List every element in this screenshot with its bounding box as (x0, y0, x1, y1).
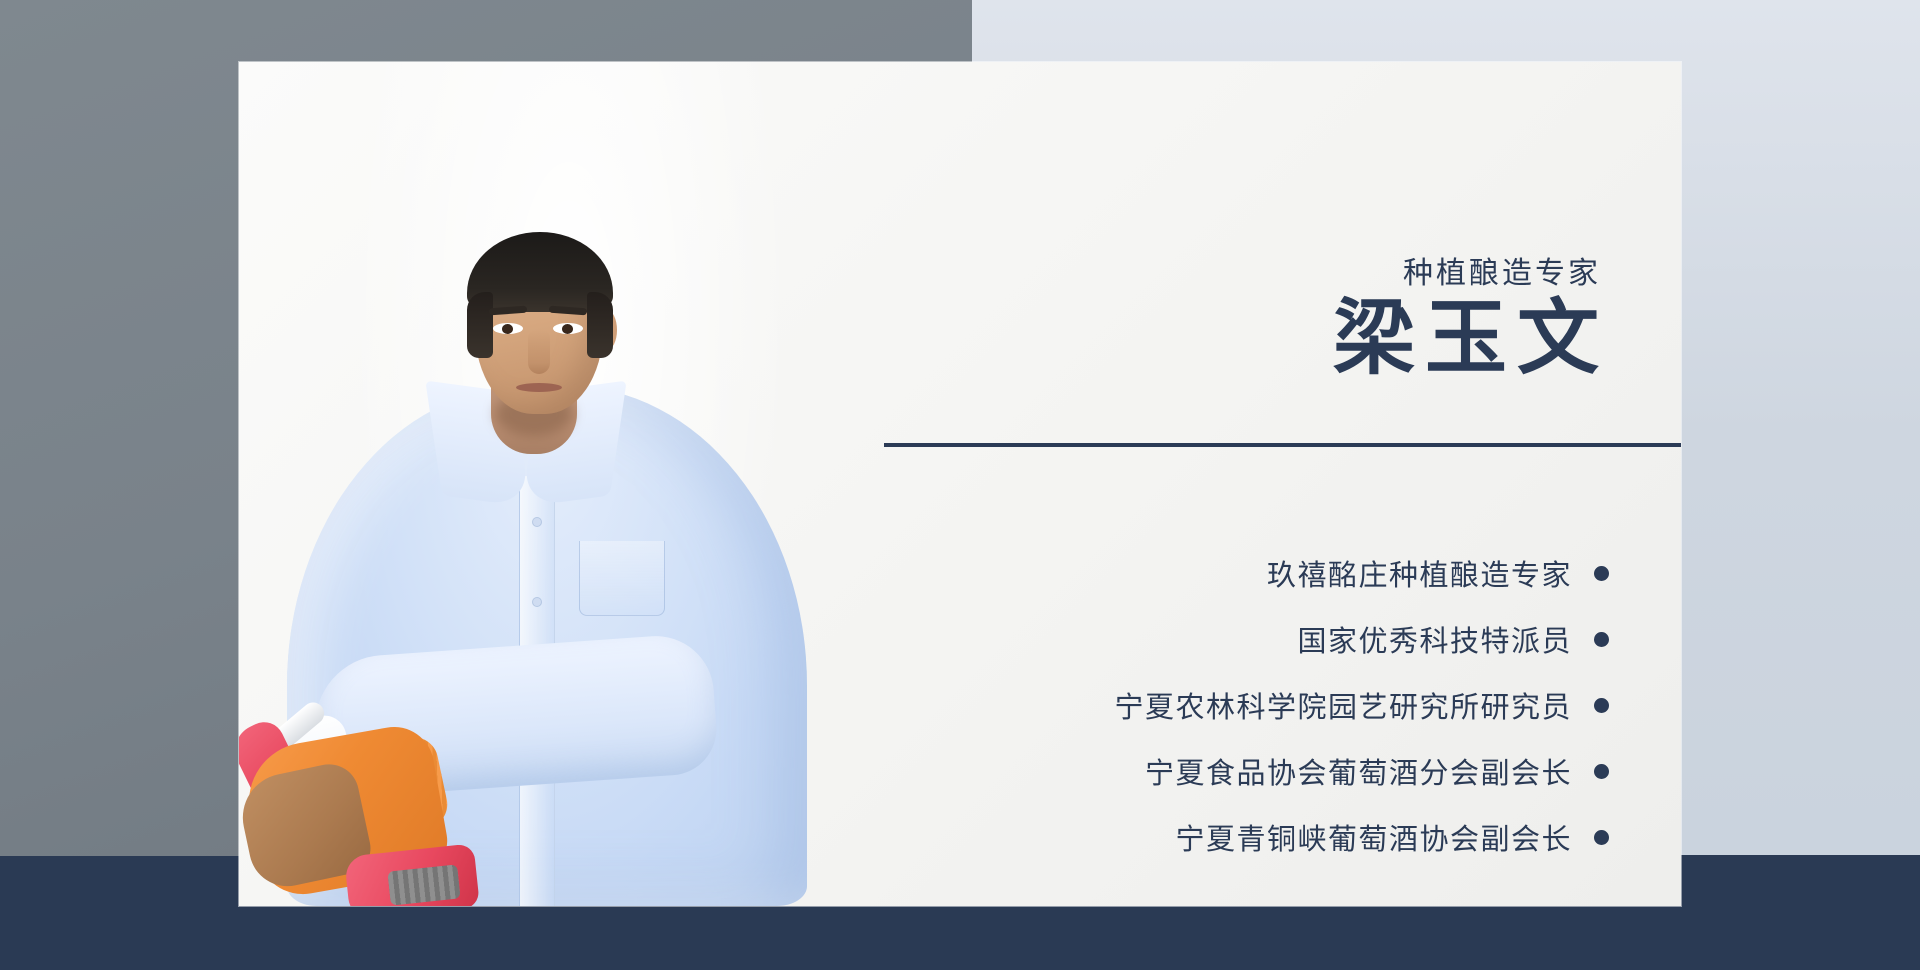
bullet-dot-icon (1594, 698, 1609, 713)
portrait-photo (239, 62, 859, 906)
pruning-shear-grip-icon (387, 864, 460, 905)
shirt-button-icon (533, 598, 541, 606)
portrait-eye-right (553, 323, 583, 334)
bullet-dot-icon (1594, 830, 1609, 845)
expert-name: 梁玉文 (1333, 296, 1609, 382)
list-item: 宁夏食品协会葡萄酒分会副会长 (1145, 738, 1609, 804)
poster-canvas: 种植酿造专家 梁玉文 玖禧酩庄种植酿造专家 国家优秀科技特派员 宁夏农林科学院园… (0, 0, 1920, 970)
list-item: 宁夏农林科学院园艺研究所研究员 (1114, 672, 1609, 738)
credentials-list: 玖禧酩庄种植酿造专家 国家优秀科技特派员 宁夏农林科学院园艺研究所研究员 宁夏食… (1114, 540, 1609, 870)
bullet-dot-icon (1594, 632, 1609, 647)
list-item: 国家优秀科技特派员 (1297, 606, 1609, 672)
background-navy-bottom-strip (0, 905, 1920, 970)
credential-text: 玖禧酩庄种植酿造专家 (1267, 552, 1572, 594)
shirt-button-icon (533, 518, 541, 526)
role-title: 种植酿造专家 (1403, 248, 1601, 292)
credential-text: 宁夏食品协会葡萄酒分会副会长 (1145, 750, 1572, 792)
credential-text: 宁夏青铜峡葡萄酒协会副会长 (1175, 816, 1572, 858)
portrait-nose (528, 330, 550, 374)
credential-text: 国家优秀科技特派员 (1297, 618, 1572, 660)
profile-card: 种植酿造专家 梁玉文 玖禧酩庄种植酿造专家 国家优秀科技特派员 宁夏农林科学院园… (239, 62, 1681, 906)
list-item: 玖禧酩庄种植酿造专家 (1267, 540, 1609, 606)
portrait-eye-left (493, 323, 523, 334)
portrait-shirt-pocket (579, 541, 665, 616)
portrait-container (239, 62, 859, 906)
credential-text: 宁夏农林科学院园艺研究所研究员 (1114, 684, 1572, 726)
divider-line (884, 443, 1681, 447)
portrait-mouth (516, 383, 562, 392)
bullet-dot-icon (1594, 764, 1609, 779)
portrait-hair-side-left (467, 292, 493, 358)
bullet-dot-icon (1594, 566, 1609, 581)
portrait-hair-side-right (587, 292, 613, 358)
list-item: 宁夏青铜峡葡萄酒协会副会长 (1175, 804, 1609, 870)
